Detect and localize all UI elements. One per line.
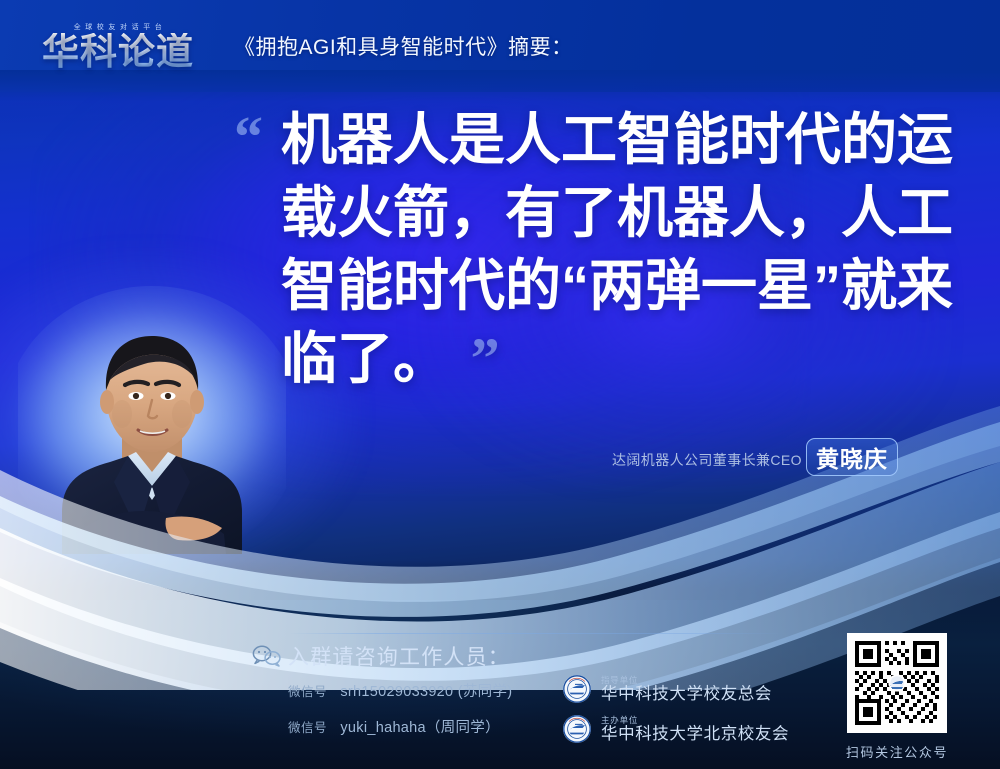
join-group-title: 入群请咨询工作人员： — [288, 641, 510, 671]
speaker-name-badge: 黄晓庆 — [806, 438, 898, 476]
organization-kind: 指导单位 — [601, 675, 772, 685]
brand-title: 华科论道 — [42, 33, 194, 70]
hust-seal-icon — [562, 674, 592, 704]
contact-label: 微信号 — [288, 721, 327, 735]
hust-seal-icon — [562, 714, 592, 744]
organization-kind: 主办单位 — [601, 715, 789, 725]
wechat-icon — [252, 645, 282, 667]
speaker-name: 黄晓庆 — [816, 440, 888, 474]
contact-label: 微信号 — [288, 685, 327, 699]
organization-name: 华中科技大学北京校友会 — [601, 725, 789, 744]
brand-tagline: 全球校友对话平台 — [70, 22, 167, 32]
contact-row: 微信号 yuki_hahaha（周同学） — [288, 716, 500, 737]
organizations: 指导单位 华中科技大学校友总会 主办单位 华中科技大学北京校友会 — [562, 672, 789, 752]
speaker-role: 达阔机器人公司董事长兼CEO — [612, 450, 802, 470]
contact-value[interactable]: yuki_hahaha（周同学） — [340, 720, 500, 736]
quote-block: 机器人是人工智能时代的运 载火箭，有了机器人，人工 智能时代的“两弹一星”就来 … — [281, 103, 953, 395]
quote-line-text: 临了。 — [281, 322, 449, 395]
poster-header: 全球校友对话平台 华科论道 《拥抱AGI和具身智能时代》摘要： — [0, 0, 1000, 92]
contact-value[interactable]: srh15029033920 (苏同学) — [340, 684, 512, 700]
organization-row: 指导单位 华中科技大学校友总会 — [562, 672, 789, 706]
quote-line: 载火箭，有了机器人，人工 — [281, 176, 953, 249]
organization-name: 华中科技大学校友总会 — [601, 685, 772, 704]
qr-code-icon[interactable] — [847, 633, 947, 733]
quote-line: 临了。 ” — [281, 322, 953, 395]
organization-row: 主办单位 华中科技大学北京校友会 — [562, 712, 789, 746]
qr-section: 扫码关注公众号 — [841, 633, 953, 761]
contact-row: 微信号 srh15029033920 (苏同学) — [288, 680, 512, 701]
qr-caption: 扫码关注公众号 — [841, 742, 953, 761]
attribution: 达阔机器人公司董事长兼CEO — [612, 447, 802, 467]
brand-logo: 全球校友对话平台 华科论道 — [24, 18, 212, 74]
quote-line: 智能时代的“两弹一星”就来 — [281, 249, 953, 322]
quote-open-mark: “ — [234, 108, 263, 166]
quote-close-mark: ” — [471, 326, 500, 391]
poster-canvas: 全球校友对话平台 华科论道 《拥抱AGI和具身智能时代》摘要： “ 机器人是人工… — [0, 0, 1000, 769]
quote-line: 机器人是人工智能时代的运 — [281, 103, 953, 176]
footer-divider — [288, 633, 786, 634]
episode-title: 《拥抱AGI和具身智能时代》摘要： — [234, 31, 573, 61]
